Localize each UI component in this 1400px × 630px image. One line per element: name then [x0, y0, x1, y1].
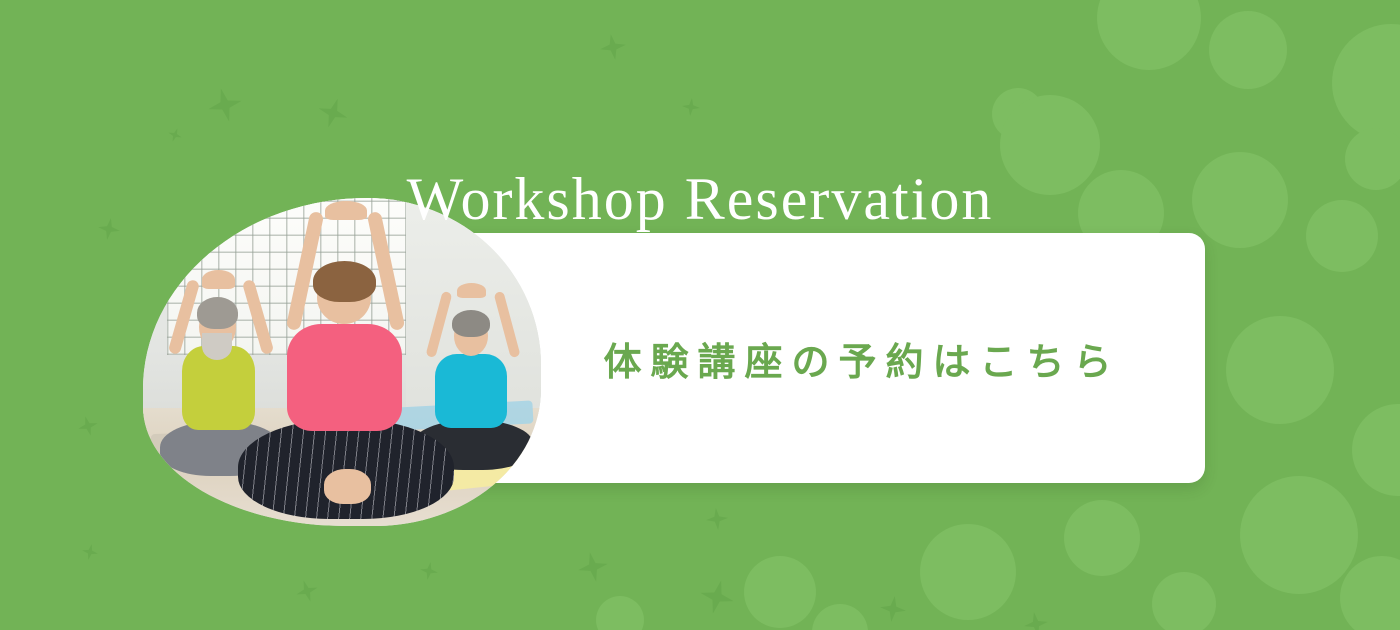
- right-participant-arm-left: [426, 291, 453, 358]
- right-participant-hair: [452, 310, 490, 337]
- center-participant-feet: [324, 469, 372, 504]
- left-participant-hands: [202, 270, 234, 289]
- left-participant-arm-left: [167, 278, 199, 354]
- right-participant-arm-right: [494, 291, 521, 358]
- center-participant-shirt: [287, 324, 402, 431]
- right-participant-shirt: [435, 354, 507, 428]
- workshop-reservation-banner: Workshop Reservation 体験講座の予約はこちら: [0, 0, 1400, 630]
- center-participant-hair: [313, 261, 377, 302]
- studio-scene: [143, 198, 541, 526]
- right-participant-hands: [457, 283, 486, 298]
- page-title: Workshop Reservation: [0, 166, 1400, 232]
- center-participant: [266, 205, 425, 520]
- yoga-class-photo: [143, 198, 541, 526]
- left-participant-hair: [197, 297, 238, 328]
- reservation-cta-label[interactable]: 体験講座の予約はこちら: [510, 233, 1205, 483]
